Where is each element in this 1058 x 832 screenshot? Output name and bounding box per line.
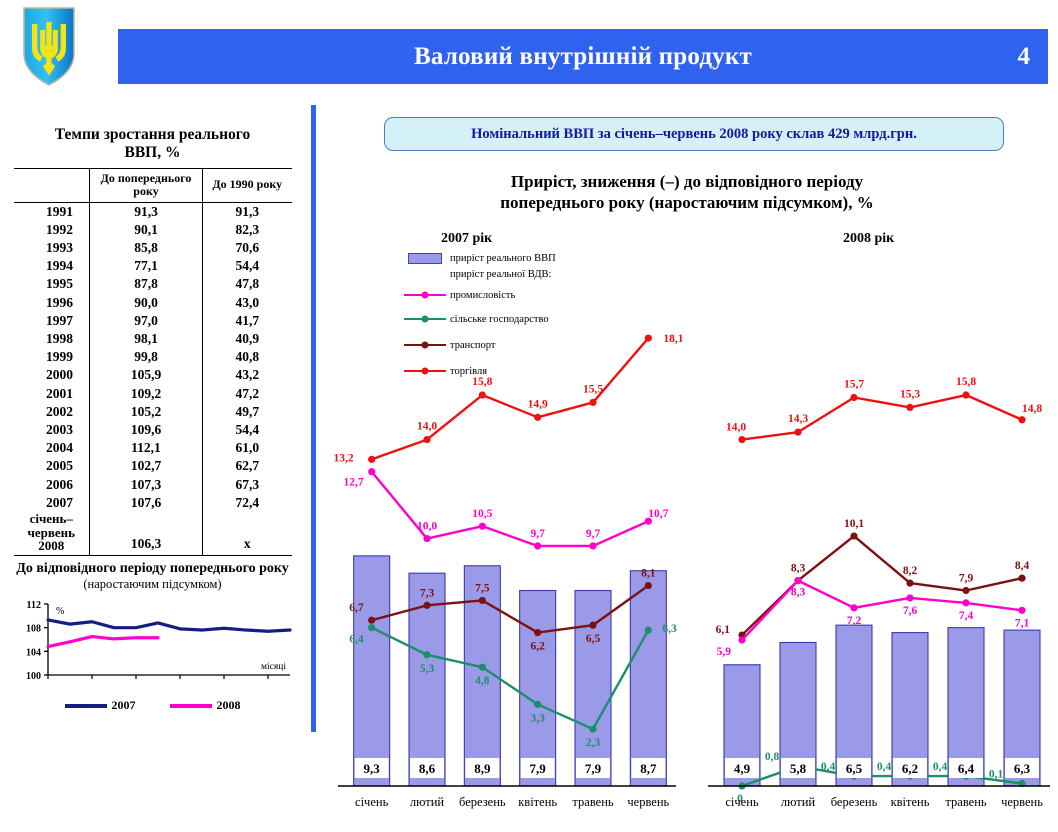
ukraine-coat-of-arms-icon [18,4,80,89]
cell-base-1990: 62,7 [203,457,292,475]
table-row: 2007107,672,4 [14,494,292,512]
label-bar-value: 8,7 [640,761,657,776]
table-row: 199690,043,0 [14,294,292,312]
point-транспорт [479,597,486,604]
label-bar-value: 5,8 [790,761,807,776]
cell-base-1990: 43,2 [203,366,292,384]
label-industry: 10,0 [417,521,437,533]
cell-prev-year: 102,7 [90,457,203,475]
point-промисловість [589,542,596,549]
cell-year: 1993 [14,239,90,257]
point-сільське господарство [645,627,652,634]
x-category-label: лютий [781,795,816,809]
col-header-prev-year: До попереднього року [90,168,203,202]
cell-base-1990: 67,3 [203,476,292,494]
table-row: 199477,154,4 [14,257,292,275]
label-bar-value: 6,3 [1014,761,1031,776]
cell-prev-year: 107,6 [90,494,203,512]
point-промисловість [479,523,486,530]
label-industry: 10,5 [472,508,492,520]
cell-prev-year: 90,0 [90,294,203,312]
mini-chart-title: До відповідного періоду попереднього рок… [0,561,305,577]
label-transport: 7,9 [959,573,974,585]
label-transport: 8,4 [1015,560,1030,572]
mini-legend-label-2008: 2008 [217,698,241,712]
mini-line-chart: До відповідного періоду попереднього рок… [0,561,305,713]
label-agriculture: 4,8 [475,675,490,687]
point-торгівля [589,399,596,406]
point-транспорт [850,532,857,539]
cell-base-1990: 40,9 [203,330,292,348]
mini-y-tick-label: 100 [26,671,41,682]
page-title: Валовий внутрішній продукт [414,43,752,71]
cell-year: 2007 [14,494,90,512]
label-bar-value: 8,9 [474,761,491,776]
cell-year: 2005 [14,457,90,475]
cell-year: 1991 [14,202,90,221]
table-body: 199191,391,3199290,182,3199385,870,61994… [14,202,292,555]
cell-year: 2002 [14,403,90,421]
cell-base-1990: 41,7 [203,312,292,330]
cell-base-1990: 82,3 [203,221,292,239]
label-agriculture: 0,8 [765,751,780,763]
cell-year: 2001 [14,385,90,403]
cell-base-1990: 70,6 [203,239,292,257]
point-сільське господарство [534,701,541,708]
x-category-label: січень [725,795,759,809]
label-agriculture: 0,4 [821,761,836,773]
point-сільське господарство [368,624,375,631]
label-agriculture: 6,4 [349,634,364,646]
cell-base-1990: 54,4 [203,421,292,439]
chart-2008-plot: 14,014,315,715,315,814,86,18,310,18,27,9… [688,297,1056,832]
line-торгівля [742,395,1022,440]
legend-line-swatch-industry-icon [402,294,448,297]
label-transport: 7,3 [420,587,435,599]
table-row: 2003109,654,4 [14,421,292,439]
point-торгівля [479,391,486,398]
label-bar-value: 6,5 [846,761,863,776]
point-торгівля [962,391,969,398]
point-промисловість [962,599,969,606]
cell-year: 1996 [14,294,90,312]
main-chart-title: Приріст, зниження (–) до відповідного пе… [316,171,1058,214]
label-transport: 8,3 [791,563,806,575]
label-industry: 7,4 [959,610,974,622]
label-trade: 14,0 [726,422,746,434]
label-bar-value: 7,9 [530,761,547,776]
x-category-label: квітень [891,795,930,809]
label-industry: 7,1 [1015,617,1030,629]
label-trade: 15,8 [956,376,976,388]
mini-chart-legend: 2007 2008 [0,698,305,713]
point-торгівля [850,394,857,401]
cell-year: 1992 [14,221,90,239]
x-category-label: червень [1001,795,1043,809]
cell-year: 2000 [14,366,90,384]
x-category-label: січень [355,795,389,809]
legend-swatch-2007 [65,704,107,708]
point-промисловість [423,535,430,542]
x-category-label: березень [459,795,506,809]
callout-text: Номінальний ВВП за січень–червень 2008 р… [471,126,917,143]
table-row: 199898,140,9 [14,330,292,348]
label-trade: 18,1 [663,333,682,345]
point-торгівля [534,414,541,421]
cell-base-1990: 40,8 [203,348,292,366]
mini-y-tick-label: 112 [26,600,40,611]
label-transport: 6,1 [716,624,731,636]
line-транспорт [742,536,1022,635]
mini-chart-subtitle: (наростаючим підсумком) [0,577,305,592]
table-row: 2002105,249,7 [14,403,292,421]
slide-number: 4 [1018,43,1031,71]
col-header-base-1990: До 1990 року [203,168,292,202]
point-промисловість [906,594,913,601]
x-category-label: березень [831,795,878,809]
label-transport: 10,1 [844,518,864,530]
mini-legend-2007: 2007 [65,698,136,713]
label-industry: 7,6 [903,605,918,617]
label-trade: 14,9 [528,398,548,410]
mini-chart-plot: 100104108112%місяці [8,594,298,697]
left-panel: Темпи зростання реального ВВП, % До попе… [0,126,305,556]
label-trade: 15,3 [900,388,920,400]
cell-year: 1998 [14,330,90,348]
cell-prev-year: 85,8 [90,239,203,257]
point-транспорт [962,587,969,594]
point-промисловість [534,542,541,549]
point-промисловість [368,468,375,475]
cell-prev-year: 97,0 [90,312,203,330]
point-транспорт [368,617,375,624]
label-bar-value: 9,3 [364,761,381,776]
point-торгівля [794,429,801,436]
x-category-label: травень [572,795,613,809]
point-торгівля [423,436,430,443]
bar-gdp [630,571,666,786]
cell-year: 1995 [14,275,90,293]
legend-item-gdp: приріст реального ВВП [402,247,556,269]
mini-y-tick-label: 108 [26,623,41,634]
table-row-period: січень–червень2008106,3х [14,512,292,555]
point-транспорт [534,629,541,636]
cell-base-1990: 61,0 [203,439,292,457]
bar-gdp [520,591,556,786]
cell-base-1990: 54,4 [203,257,292,275]
point-промисловість [1018,607,1025,614]
cell-prev-year: 105,2 [90,403,203,421]
table-row: 199290,182,3 [14,221,292,239]
cell-prev-year: 109,6 [90,421,203,439]
point-транспорт [423,602,430,609]
label-industry: 7,2 [847,615,862,627]
label-bar-value: 4,9 [734,761,751,776]
label-industry: 9,7 [586,528,601,540]
point-сільське господарство [423,651,430,658]
cell-base-1990: 49,7 [203,403,292,421]
point-торгівля [906,404,913,411]
label-bar-value: 6,2 [902,761,918,776]
point-транспорт [906,579,913,586]
label-trade: 13,2 [334,452,354,464]
label-transport: 8,2 [903,565,918,577]
point-сільське господарство [479,664,486,671]
col-header-year [14,168,90,202]
label-trade: 14,0 [417,421,437,433]
label-trade: 15,8 [472,376,492,388]
cell-period-base-1990: х [203,512,292,555]
label-trade: 15,7 [844,379,864,391]
label-agriculture: 6,3 [662,623,677,635]
mini-series-2008 [48,636,158,646]
label-trade: 15,5 [583,383,603,395]
legend-label-gva-heading: приріст реальної ВДВ: [402,269,556,284]
cell-year: 2003 [14,421,90,439]
cell-year: 2006 [14,476,90,494]
cell-year: 1997 [14,312,90,330]
label-transport: 6,2 [530,641,545,653]
table-row: 2004112,161,0 [14,439,292,457]
table-row: 2000105,943,2 [14,366,292,384]
cell-year: 2004 [14,439,90,457]
mini-series-2007 [48,620,290,631]
label-industry: 5,9 [717,646,732,658]
label-industry: 12,7 [344,477,364,489]
point-транспорт [645,582,652,589]
cell-base-1990: 47,8 [203,275,292,293]
table-row: 199587,847,8 [14,275,292,293]
label-agriculture: 3,3 [530,712,545,724]
gdp-growth-table: До попереднього року До 1990 року 199191… [14,168,292,556]
cell-prev-year: 112,1 [90,439,203,457]
x-category-label: червень [627,795,669,809]
line-промисловість [372,472,649,546]
cell-prev-year: 107,3 [90,476,203,494]
point-торгівля [645,335,652,342]
cell-year: 1994 [14,257,90,275]
table-row: 2005102,762,7 [14,457,292,475]
cell-base-1990: 91,3 [203,202,292,221]
label-transport: 6,5 [586,633,601,645]
bar-gdp [575,591,611,786]
table-header: До попереднього року До 1990 року [14,168,292,202]
x-category-label: квітень [518,795,557,809]
label-agriculture: 0,4 [877,761,892,773]
bar-gdp [354,556,390,786]
table-row: 199191,391,3 [14,202,292,221]
label-bar-value: 7,9 [585,761,602,776]
cell-prev-year: 77,1 [90,257,203,275]
growth-table-title: Темпи зростання реального ВВП, % [0,126,305,162]
cell-prev-year: 91,3 [90,202,203,221]
label-transport: 8,1 [641,568,656,580]
label-industry: 9,7 [530,528,545,540]
legend-bar-swatch-icon [402,253,448,264]
table-row: 2001109,247,2 [14,385,292,403]
cell-base-1990: 47,2 [203,385,292,403]
cell-prev-year: 87,8 [90,275,203,293]
line-торгівля [372,338,649,459]
mini-legend-label-2007: 2007 [112,698,136,712]
table-row: 199385,870,6 [14,239,292,257]
point-торгівля [368,456,375,463]
label-agriculture: 5,3 [420,663,435,675]
label-bar-value: 6,4 [958,761,975,776]
label-agriculture: 0,4 [933,761,948,773]
label-transport: 6,7 [349,602,364,614]
chart-label-2007: 2007 рік [441,231,492,247]
label-trade: 14,8 [1022,403,1042,415]
slide-title-bar: Валовий внутрішній продукт 4 [118,29,1048,84]
point-транспорт [1018,575,1025,582]
point-промисловість [794,577,801,584]
mini-y-unit-label: % [56,606,64,617]
label-bar-value: 8,6 [419,761,436,776]
point-торгівля [1018,416,1025,423]
nominal-gdp-callout: Номінальний ВВП за січень–червень 2008 р… [384,117,1004,151]
legend-swatch-2008 [170,704,212,708]
label-trade: 14,3 [788,413,808,425]
cell-prev-year: 109,2 [90,385,203,403]
mini-x-axis-label: місяці [261,662,286,672]
point-промисловість [850,604,857,611]
label-industry: 8,3 [791,587,806,599]
chart-label-2008: 2008 рік [843,231,894,247]
table-row: 199999,840,8 [14,348,292,366]
label-transport: 7,5 [475,582,490,594]
chart-2007-plot: 13,214,015,814,915,518,16,77,37,56,26,58… [322,297,682,832]
x-category-label: травень [945,795,986,809]
mini-y-tick-label: 104 [26,647,41,658]
right-panel: Номінальний ВВП за січень–червень 2008 р… [316,105,1058,743]
point-торгівля [738,436,745,443]
mini-legend-2008: 2008 [170,698,241,713]
point-транспорт [589,622,596,629]
cell-prev-year: 99,8 [90,348,203,366]
x-category-label: лютий [410,795,445,809]
cell-base-1990: 43,0 [203,294,292,312]
cell-period-prev: 106,3 [90,512,203,555]
table-row: 199797,041,7 [14,312,292,330]
legend-label-gdp: приріст реального ВВП [448,253,556,264]
cell-period-label: січень–червень2008 [14,512,90,555]
label-agriculture: 0,1 [989,769,1004,781]
cell-prev-year: 98,1 [90,330,203,348]
cell-base-1990: 72,4 [203,494,292,512]
point-сільське господарство [589,725,596,732]
point-промисловість [738,636,745,643]
cell-prev-year: 90,1 [90,221,203,239]
label-industry: 10,7 [648,508,668,520]
cell-prev-year: 105,9 [90,366,203,384]
cell-year: 1999 [14,348,90,366]
table-row: 2006107,367,3 [14,476,292,494]
label-agriculture: 2,3 [586,737,601,749]
